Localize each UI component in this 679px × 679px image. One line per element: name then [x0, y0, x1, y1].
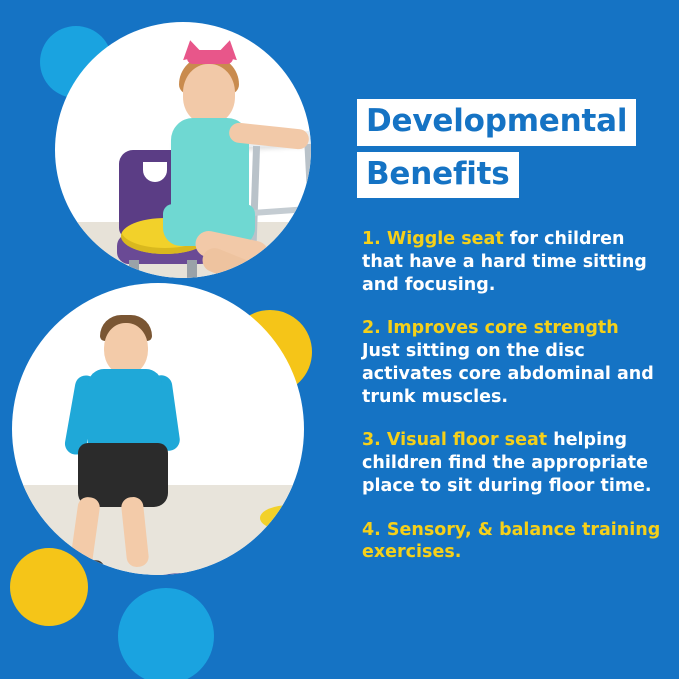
school-desk-crossbar [251, 206, 311, 216]
benefits-list: 1. Wiggle seat for children that have a … [362, 228, 662, 585]
girl-head [183, 64, 235, 124]
boy-head [104, 323, 148, 375]
benefit-item-2: 2. Improves core strength Just sitting o… [362, 317, 662, 408]
benefit-2-number: 2. [362, 318, 381, 338]
photo-girl-on-wiggle-seat [55, 22, 311, 278]
decorative-circle-cyan-bottom [118, 588, 214, 679]
benefit-1-heading: Wiggle seat [387, 229, 504, 249]
title-line-2: Benefits [357, 152, 519, 199]
benefit-2-body: Just sitting on the disc activates core … [362, 341, 654, 407]
benefit-4-heading: Sensory, & balance training exercises. [362, 520, 660, 563]
benefit-1-number: 1. [362, 229, 381, 249]
title-line-1: Developmental [357, 99, 636, 146]
benefit-3-heading: Visual floor seat [387, 430, 547, 450]
benefit-3-number: 3. [362, 430, 381, 450]
poster: Developmental Benefits 1. Wiggle seat fo… [0, 0, 679, 679]
photo-boy-on-balance-discs [12, 283, 304, 575]
photo-girl-scene [55, 22, 311, 278]
girl-headband [187, 50, 233, 64]
benefit-item-4: 4. Sensory, & balance training exercises… [362, 519, 662, 565]
benefit-item-1: 1. Wiggle seat for children that have a … [362, 228, 662, 296]
benefit-item-3: 3. Visual floor seat helping children fi… [362, 429, 662, 497]
chair-leg-left [129, 260, 139, 278]
chair-leg-right [187, 260, 197, 278]
photo-boy-scene [12, 283, 304, 575]
benefit-2-heading: Improves core strength [387, 318, 619, 338]
page-title: Developmental Benefits [357, 99, 653, 204]
benefit-4-number: 4. [362, 520, 381, 540]
